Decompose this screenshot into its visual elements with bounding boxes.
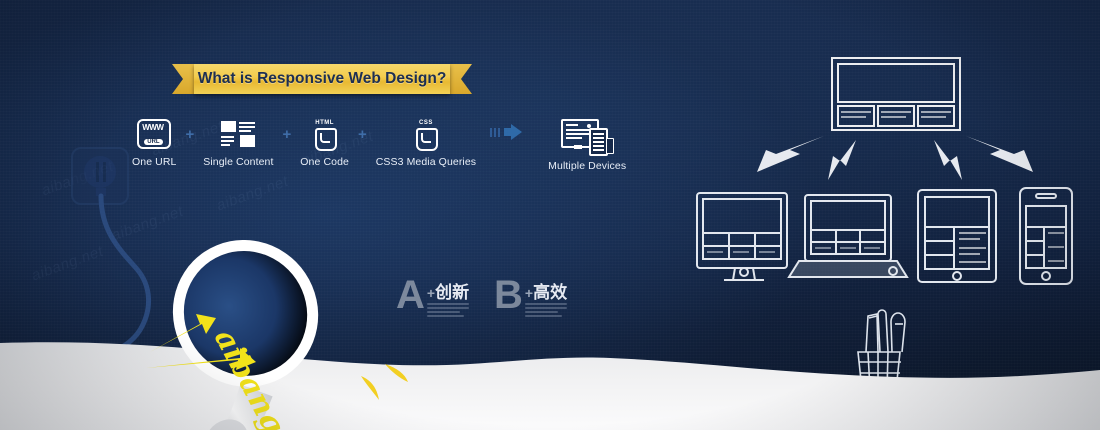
hero-banner-canvas: aibang.net aibang.net aibang.net aibang.… (0, 0, 1100, 430)
feature-separator: + (358, 126, 367, 143)
multiple-devices-icon (561, 118, 613, 154)
feature-multiple-devices: Multiple Devices (548, 118, 626, 172)
bulb-sparks (355, 358, 425, 404)
highlight-letter: B (494, 278, 523, 312)
feature-separator: + (185, 126, 194, 143)
feature-one-code: HTML One Code (300, 118, 349, 168)
feature-one-url: WWW URL One URL (132, 118, 176, 168)
feature-label: Multiple Devices (548, 160, 626, 172)
feature-list: WWW URL One URL + Single C (132, 118, 626, 172)
feature-separator: + (283, 126, 292, 143)
feature-css3-media-queries: CSS CSS3 Media Queries (376, 118, 476, 168)
ribbon-tail-right (448, 64, 472, 94)
highlight-plus: + (427, 285, 435, 301)
feature-label: One URL (132, 156, 176, 168)
html5-code-icon-tag: HTML (313, 120, 337, 126)
highlight-text-group: +高效 (525, 283, 567, 302)
page-title-ribbon: What is Responsive Web Design? (172, 64, 472, 94)
flow-arrow-icon (490, 124, 522, 140)
feature-label: One Code (300, 156, 349, 168)
highlight-text-group: +创新 (427, 283, 469, 302)
html5-code-icon: HTML (313, 118, 337, 150)
feature-label: Single Content (203, 156, 273, 168)
page-title: What is Responsive Web Design? (194, 64, 450, 94)
spark-right (385, 364, 408, 382)
world-url-icon-www: WWW (142, 123, 163, 132)
highlight-plus: + (525, 285, 533, 301)
ribbon-tail-left (172, 64, 196, 94)
feature-single-content: Single Content (203, 118, 273, 168)
spark-left (361, 376, 379, 400)
world-url-icon: WWW URL (137, 118, 171, 150)
world-url-icon-badge: URL (144, 139, 162, 145)
single-content-icon (221, 118, 255, 150)
highlight-label: 高效 (533, 283, 567, 302)
feature-label: CSS3 Media Queries (376, 156, 476, 168)
css3-media-query-icon: CSS (414, 118, 438, 150)
highlight-label: 创新 (435, 283, 469, 302)
css3-media-query-icon-tag: CSS (414, 120, 438, 126)
socket-outlet (84, 156, 116, 188)
